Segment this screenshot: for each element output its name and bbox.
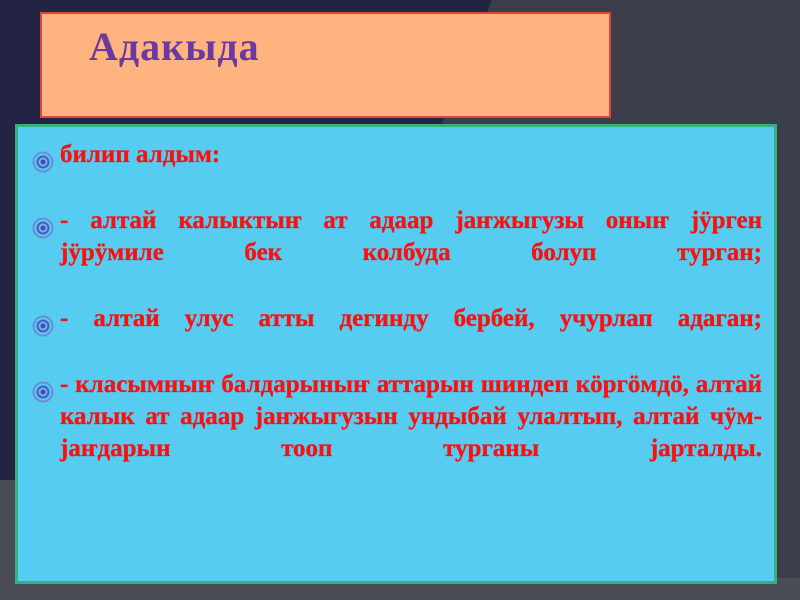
background-right-strip bbox=[776, 100, 800, 578]
bullseye-icon bbox=[26, 211, 60, 245]
list-item: - класымныҥ балдарыныҥ аттарын шиндеп кö… bbox=[26, 369, 766, 497]
list-item-text: - алтай калыктыҥ ат адаар јаҥжыгузы оныҥ… bbox=[60, 205, 766, 301]
content-box: билип алдым: - алтай калыктыҥ ат адаар ј… bbox=[15, 124, 777, 584]
list-item-text: - класымныҥ балдарыныҥ аттарын шиндеп кö… bbox=[60, 369, 766, 497]
bullseye-icon bbox=[26, 375, 60, 409]
title-plate: Адакыда bbox=[40, 12, 611, 118]
list-item-text: - алтай улус атты дегинду бербей, учурла… bbox=[60, 303, 766, 367]
list-item-text: билип алдым: bbox=[60, 139, 766, 203]
list-item: - алтай улус атты дегинду бербей, учурла… bbox=[26, 303, 766, 367]
list-item: - алтай калыктыҥ ат адаар јаҥжыгузы оныҥ… bbox=[26, 205, 766, 301]
bullseye-icon bbox=[26, 145, 60, 179]
page-title: Адакыда bbox=[89, 25, 260, 69]
list-item: билип алдым: bbox=[26, 139, 766, 203]
slide-canvas: Адакыда билип алдым: - алтай калыктыҥ ат… bbox=[0, 0, 800, 600]
bullseye-icon bbox=[26, 309, 60, 343]
